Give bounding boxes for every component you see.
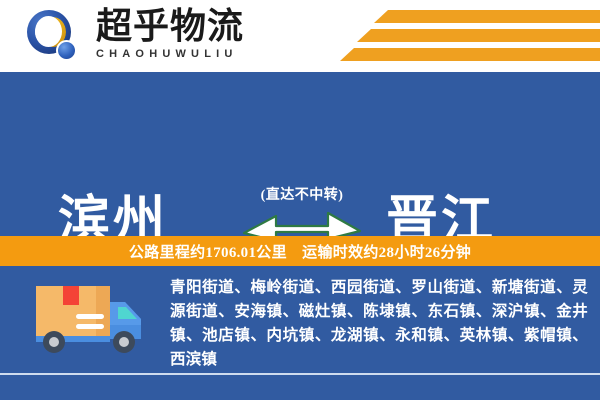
chaohu-circle-logo-icon xyxy=(27,10,83,62)
brand-name-pinyin: CHAOHUWULIU xyxy=(96,48,286,60)
footer-stripe xyxy=(0,373,600,400)
coverage-areas-text: 青阳街道、梅岭街道、西园街道、罗山街道、新塘街道、灵源街道、安海镇、磁灶镇、陈埭… xyxy=(170,276,588,372)
delivery-truck-icon xyxy=(30,280,152,356)
brand-block: 超乎物流 CHAOHUWULIU xyxy=(96,6,286,60)
logistics-route-poster: 超乎物流 CHAOHUWULIU 滨州 (直达不中转) 【往返运输】 晋江 公路… xyxy=(0,0,600,400)
stripe-decoration xyxy=(330,8,600,66)
distance-duration-bar: 公路里程约1706.01公里 运输时效约28小时26分钟 xyxy=(0,236,600,266)
stripe-1 xyxy=(374,10,600,23)
route-panel: 滨州 (直达不中转) 【往返运输】 晋江 xyxy=(0,72,600,236)
distance-duration-text: 公路里程约1706.01公里 运输时效约28小时26分钟 xyxy=(129,241,471,262)
direct-transport-note: (直达不中转) xyxy=(240,187,364,205)
brand-name-chinese: 超乎物流 xyxy=(96,6,286,46)
header-bar: 超乎物流 CHAOHUWULIU xyxy=(0,0,600,72)
logo-accent-dot xyxy=(56,40,77,61)
stripe-2 xyxy=(357,29,600,42)
stripe-3 xyxy=(340,48,600,61)
coverage-panel: 青阳街道、梅岭街道、西园街道、罗山街道、新塘街道、灵源街道、安海镇、磁灶镇、陈埭… xyxy=(0,266,600,373)
